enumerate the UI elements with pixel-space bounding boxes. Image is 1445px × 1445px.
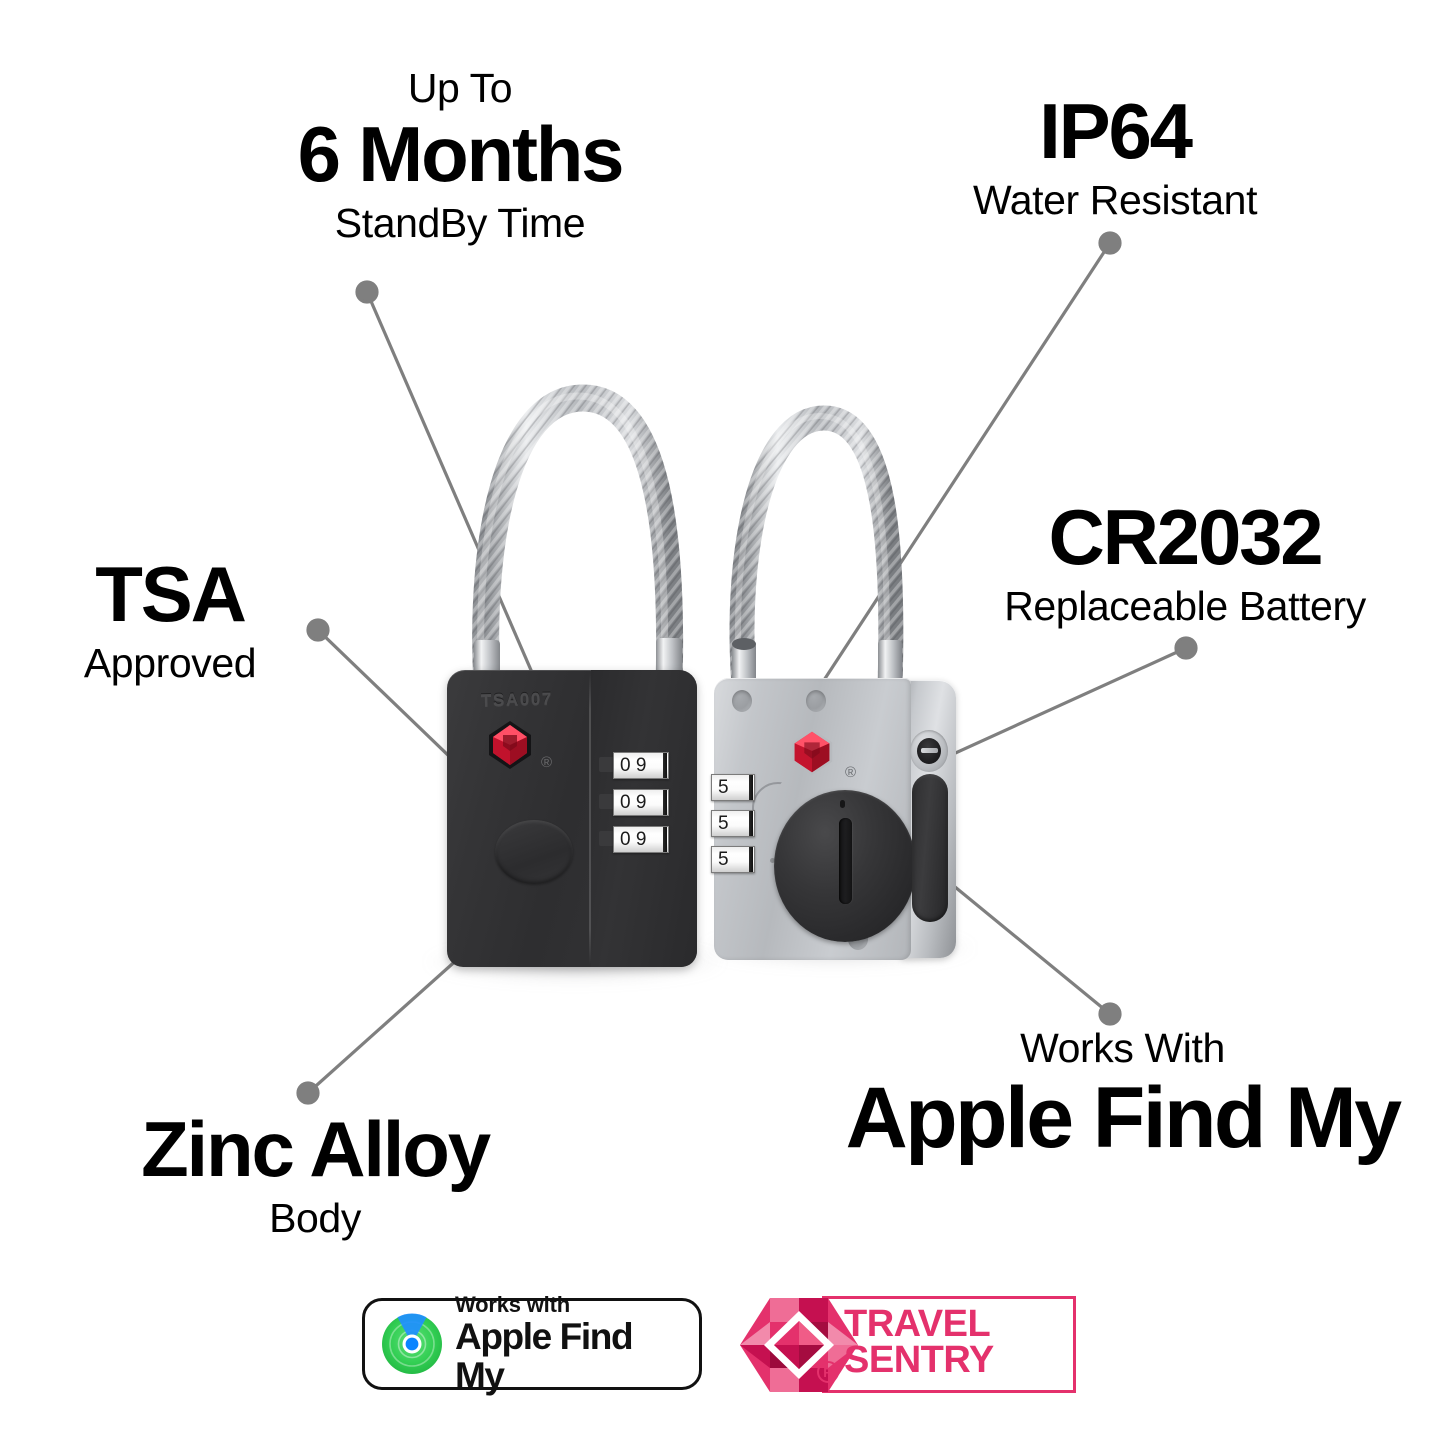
silver-lock-rotary-knob[interactable] bbox=[774, 790, 916, 942]
callout-battery-sub: Replaceable Battery bbox=[965, 586, 1405, 627]
dial-digits: 5 bbox=[718, 813, 729, 835]
callout-findmy-pre: Works With bbox=[840, 1028, 1405, 1069]
works-with-apple-find-my-badge: Works with Apple Find My bbox=[362, 1298, 702, 1390]
svg-text:R: R bbox=[823, 1365, 833, 1380]
callout-zinc-headline: Zinc Alloy bbox=[90, 1110, 540, 1188]
travel-sentry-diamond-icon bbox=[740, 1294, 858, 1396]
callout-zinc-alloy-body: Zinc Alloy Body bbox=[90, 1110, 540, 1239]
registered-mark-silver: ® bbox=[845, 764, 856, 781]
keyhole[interactable] bbox=[910, 730, 948, 772]
black-lock-button[interactable] bbox=[495, 820, 573, 884]
registered-mark-black: ® bbox=[541, 754, 552, 771]
dial-window[interactable]: 5 bbox=[711, 810, 755, 837]
callout-ip64-sub: Water Resistant bbox=[905, 180, 1325, 221]
dial-window[interactable]: 5 bbox=[711, 846, 755, 873]
callout-battery-headline: CR2032 bbox=[965, 498, 1405, 576]
black-combination-lock: TSA007 ® 0 9 0 9 bbox=[447, 670, 697, 967]
callout-standby-sub: StandBy Time bbox=[180, 203, 740, 244]
find-my-badge-line1: Works with bbox=[455, 1293, 681, 1317]
callout-standby-pre: Up To bbox=[180, 68, 740, 109]
callout-zinc-sub: Body bbox=[90, 1198, 540, 1239]
travel-sentry-line2: SENTRY bbox=[844, 1342, 994, 1378]
callout-findmy-headline: Apple Find My bbox=[840, 1075, 1405, 1161]
callout-tsa-headline: TSA bbox=[20, 555, 320, 633]
black-lock-seam bbox=[589, 674, 591, 964]
travel-sentry-badge: R TRAVEL SENTRY bbox=[740, 1294, 1076, 1396]
silver-lock-cable bbox=[718, 378, 933, 690]
dial-window[interactable]: 0 9 bbox=[613, 826, 669, 853]
travel-sentry-line1: TRAVEL bbox=[844, 1306, 994, 1342]
callout-replaceable-battery: CR2032 Replaceable Battery bbox=[965, 498, 1405, 627]
callout-water-resistant: IP64 Water Resistant bbox=[905, 92, 1325, 221]
dial-digits: 0 9 bbox=[620, 792, 646, 814]
infographic-canvas: TSA007 ® 0 9 0 9 bbox=[0, 0, 1445, 1445]
find-my-badge-line2: Apple Find My bbox=[455, 1317, 681, 1395]
callout-tsa-sub: Approved bbox=[20, 643, 320, 684]
callout-standby-time: Up To 6 Months StandBy Time bbox=[180, 68, 740, 244]
screw-hole bbox=[806, 690, 826, 712]
callout-ip64-headline: IP64 bbox=[905, 92, 1325, 170]
find-my-radar-icon bbox=[381, 1313, 443, 1375]
travel-sentry-registered-mark: R bbox=[816, 1360, 840, 1390]
tsa-diamond-icon bbox=[786, 726, 838, 778]
screw-hole bbox=[732, 690, 752, 712]
dial-window[interactable]: 0 9 bbox=[613, 752, 669, 779]
dial-digits: 5 bbox=[718, 849, 729, 871]
dial-digits: 0 9 bbox=[620, 829, 646, 851]
callout-standby-headline: 6 Months bbox=[180, 115, 740, 193]
dial-window[interactable]: 5 bbox=[711, 774, 755, 801]
black-lock-dial-panel bbox=[591, 670, 697, 967]
callout-works-with-apple-find-my: Works With Apple Find My bbox=[840, 1028, 1405, 1161]
certification-badges: Works with Apple Find My bbox=[0, 1290, 1445, 1425]
silver-lock-rubber-strip bbox=[912, 774, 948, 922]
black-lock-cable bbox=[455, 340, 715, 690]
tsa007-emboss-text: TSA007 bbox=[481, 689, 553, 711]
dial-digits: 5 bbox=[718, 777, 729, 799]
tsa-diamond-icon bbox=[483, 718, 537, 772]
silver-combination-lock: ® 5 5 5 bbox=[714, 678, 954, 960]
callout-tsa-approved: TSA Approved bbox=[20, 555, 320, 684]
dial-window[interactable]: 0 9 bbox=[613, 789, 669, 816]
dial-digits: 0 9 bbox=[620, 755, 646, 777]
